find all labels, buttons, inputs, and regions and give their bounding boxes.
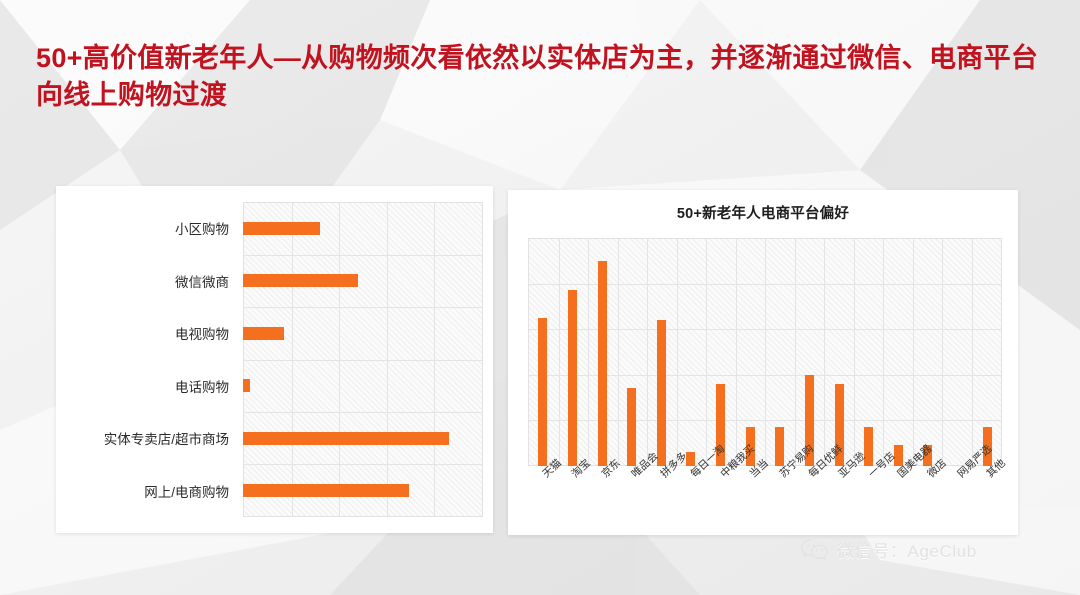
left-axis-row: 微信微商 [56,255,237,308]
right-chart-bar [598,261,607,466]
right-chart-bar [657,320,666,466]
watermark: 微信号：AgeClub [800,537,977,562]
right-chart-bars [528,238,1002,466]
right-chart-title: 50+新老年人电商平台偏好 [508,202,1018,223]
left-axis-row: 电视购物 [56,307,237,360]
left-axis-row: 电话购物 [56,360,237,413]
left-axis-row: 实体专卖店/超市商场 [56,412,237,465]
left-chart-bar [243,432,449,445]
left-axis-label: 电话购物 [175,376,229,396]
left-chart-bar [243,379,250,392]
right-chart-bar [775,427,784,466]
chart-panel-shopping-frequency: 小区购物 微信微商 电视购物 电话购物 实体专卖店/超市商场 网上/电商购物 [56,186,493,533]
right-chart-bar [538,318,547,466]
left-axis-label: 网上/电商购物 [144,481,229,501]
left-chart-category-axis: 小区购物 微信微商 电视购物 电话购物 实体专卖店/超市商场 网上/电商购物 [56,202,237,517]
left-axis-label: 微信微商 [175,271,229,291]
left-axis-label: 小区购物 [175,218,229,238]
left-chart-bar [243,274,358,287]
left-chart-bar [243,327,284,340]
left-chart-bar [243,222,320,235]
left-chart-bar [243,484,409,497]
right-chart-bar [627,388,636,466]
chart-panel-ecommerce-preference: 50+新老年人电商平台偏好 天猫淘宝京东唯品会拼多多每日一淘中粮我买当当苏宁易购… [508,190,1018,535]
page-title: 50+高价值新老年人—从购物频次看依然以实体店为主，并逐渐通过微信、电商平台向线… [36,40,1046,114]
right-chart-category-axis: 天猫淘宝京东唯品会拼多多每日一淘中粮我买当当苏宁易购每日优鲜亚马逊一号店国美电器… [528,470,1002,532]
left-axis-row: 网上/电商购物 [56,465,237,518]
left-chart-bars [243,202,483,517]
left-axis-label: 实体专卖店/超市商场 [104,428,229,448]
left-axis-row: 小区购物 [56,202,237,255]
watermark-text: 微信号：AgeClub [837,537,977,562]
right-chart-bar [568,290,577,466]
wechat-icon [800,538,830,562]
left-axis-label: 电视购物 [175,323,229,343]
